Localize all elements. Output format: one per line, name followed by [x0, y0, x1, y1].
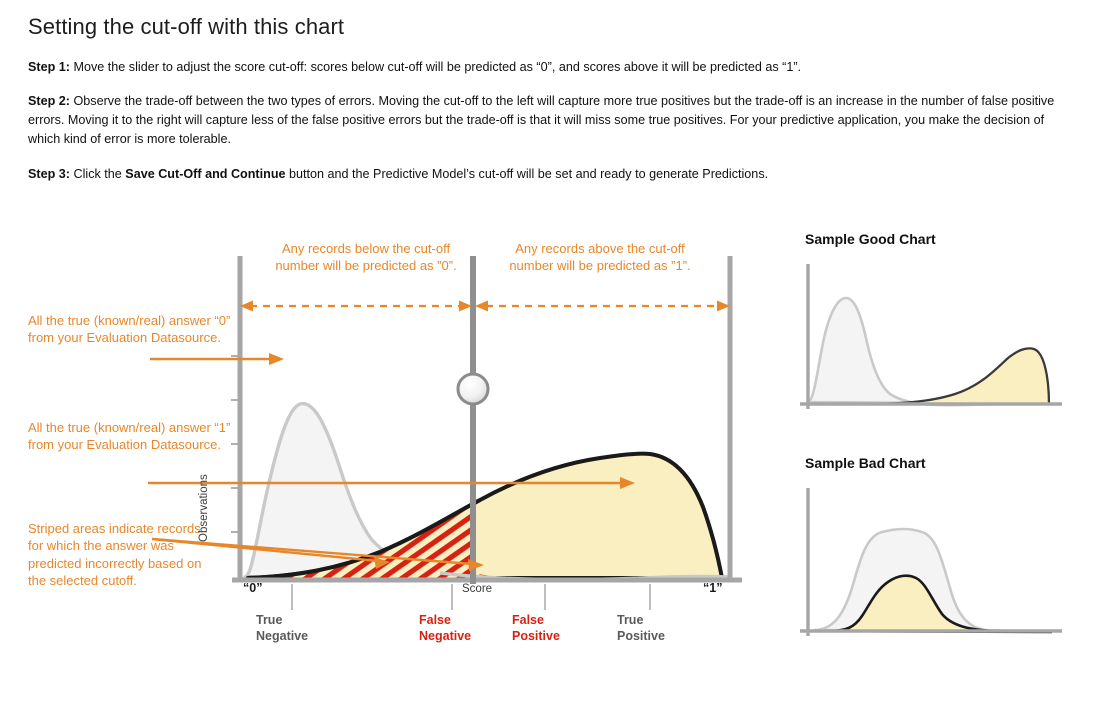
- annotation-true-zero: All the true (known/real) answer “0” fro…: [28, 312, 233, 347]
- sample-bad-chart-title: Sample Bad Chart: [805, 455, 926, 471]
- leader-true-zero-arrow-icon: [269, 353, 284, 365]
- cutoff-figure: Any records below the cut-off number wil…: [0, 212, 1095, 711]
- instruction-step-3: Step 3: Click the Save Cut-Off and Conti…: [28, 165, 1068, 184]
- sample-good-chart: [790, 254, 1070, 419]
- annotation-striped-areas: Striped areas indicate records for which…: [28, 520, 208, 590]
- quadrant-label-true-negative: True Negative: [256, 613, 308, 644]
- step-1-text: Move the slider to adjust the score cut-…: [70, 60, 801, 74]
- step-2-label: Step 2:: [28, 94, 70, 108]
- instruction-step-1: Step 1: Move the slider to adjust the sc…: [28, 58, 1068, 77]
- step-3-text-after: button and the Predictive Model’s cut-of…: [286, 167, 769, 181]
- save-cutoff-and-continue-button-name: Save Cut-Off and Continue: [125, 167, 285, 181]
- annotation-below-cutoff: Any records below the cut-off number wil…: [266, 240, 466, 275]
- cutoff-slider-handle[interactable]: [458, 374, 488, 404]
- x-axis-label: Score: [462, 583, 492, 595]
- step-3-label: Step 3:: [28, 167, 70, 181]
- sample-good-chart-title: Sample Good Chart: [805, 231, 936, 247]
- y-axis-label: Observations: [198, 474, 210, 542]
- step-2-text: Observe the trade-off between the two ty…: [28, 94, 1054, 146]
- annotation-true-one: All the true (known/real) answer “1” fro…: [28, 419, 233, 454]
- range-arrows: [240, 301, 730, 312]
- quadrant-label-true-positive: True Positive: [617, 613, 665, 644]
- quadrant-label-false-negative: False Negative: [419, 613, 471, 644]
- arrowhead-left-2-icon: [475, 301, 488, 312]
- instruction-step-2: Step 2: Observe the trade-off between th…: [28, 92, 1068, 149]
- x-axis-min-label: “0”: [243, 581, 262, 595]
- quadrant-label-false-positive: False Positive: [512, 613, 560, 644]
- x-axis-max-label: “1”: [703, 581, 722, 595]
- instructions-panel: Setting the cut-off with this chart Step…: [28, 14, 1068, 184]
- step-3-text-before: Click the: [70, 167, 125, 181]
- step-1-label: Step 1:: [28, 60, 70, 74]
- annotation-above-cutoff: Any records above the cut-off number wil…: [500, 240, 700, 275]
- sample-bad-chart: [790, 478, 1070, 646]
- page-title: Setting the cut-off with this chart: [28, 14, 1068, 40]
